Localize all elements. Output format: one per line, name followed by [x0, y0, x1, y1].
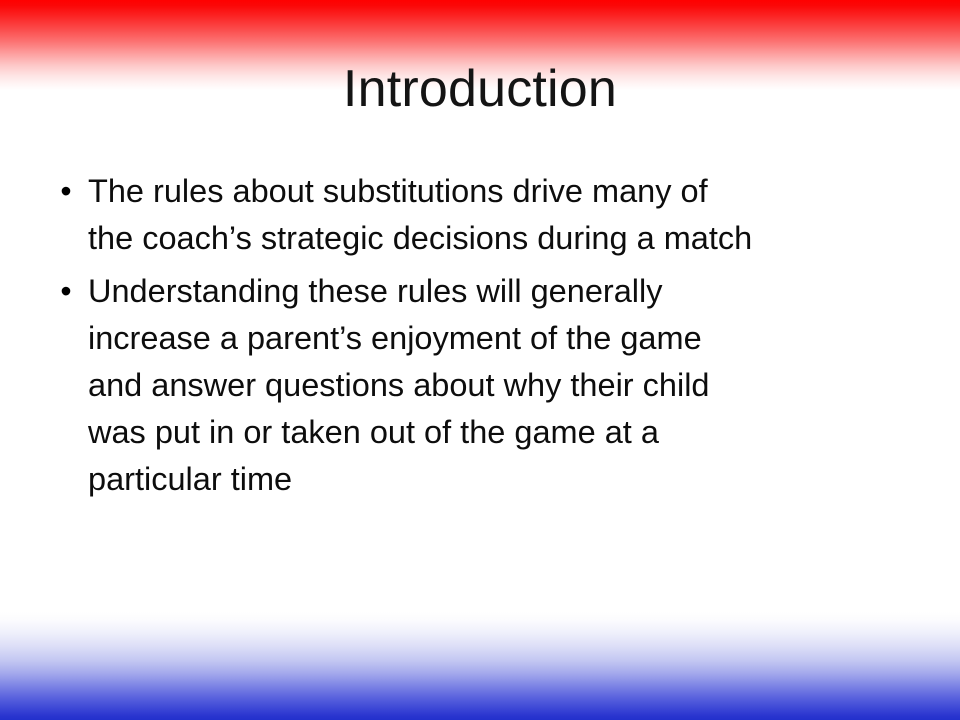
bullet-text-line: Understanding these rules will generally: [88, 268, 888, 315]
bullet-text-line: increase a parent’s enjoyment of the gam…: [88, 315, 888, 362]
presentation-slide: Introduction • The rules about substitut…: [0, 0, 960, 720]
bullet-text-line: particular time: [88, 456, 888, 503]
bullet-text-block: Understanding these rules will generally…: [88, 268, 888, 503]
bullet-point-icon: •: [44, 268, 88, 315]
bullet-item: • Understanding these rules will general…: [44, 268, 924, 503]
bullet-text-line: and answer questions about why their chi…: [88, 362, 888, 409]
bullet-text-block: The rules about substitutions drive many…: [88, 168, 888, 262]
bottom-gradient-band: [0, 612, 960, 720]
slide-body-content: • The rules about substitutions drive ma…: [44, 168, 924, 509]
bullet-point-icon: •: [44, 168, 88, 215]
bullet-item: • The rules about substitutions drive ma…: [44, 168, 924, 262]
bullet-text-line: The rules about substitutions drive many…: [88, 168, 888, 215]
bullet-text-line: the coach’s strategic decisions during a…: [88, 215, 888, 262]
slide-title: Introduction: [0, 58, 960, 120]
bullet-text-line: was put in or taken out of the game at a: [88, 409, 888, 456]
